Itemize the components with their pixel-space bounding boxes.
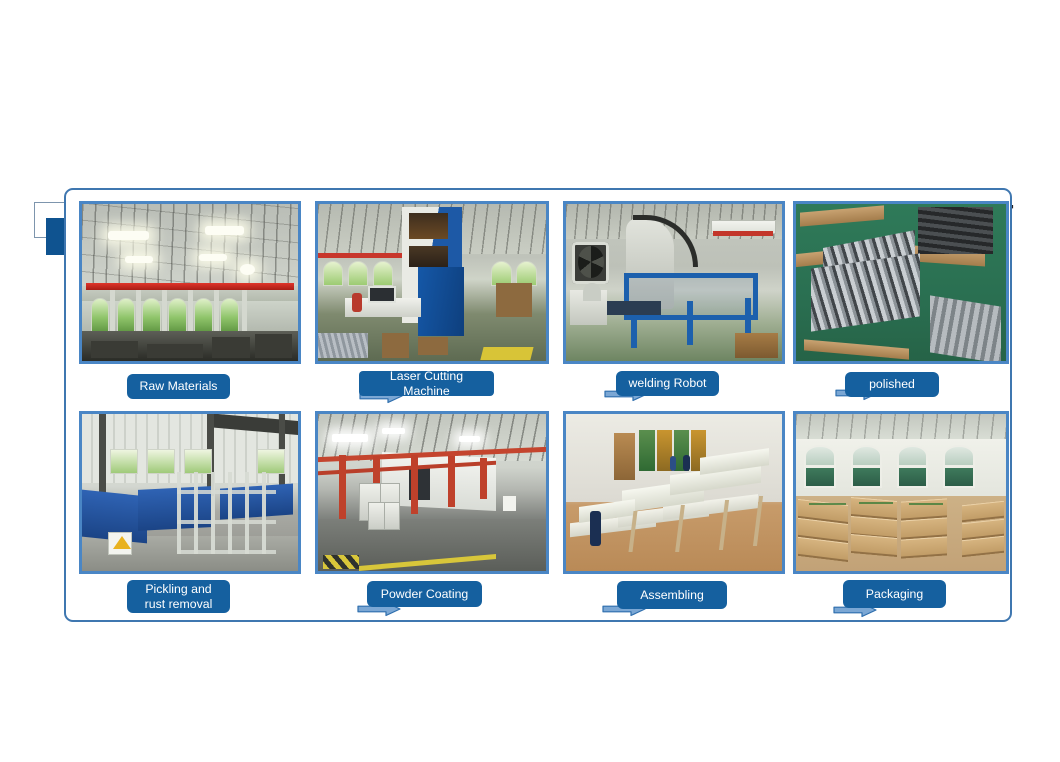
workflow-step-raw-materials[interactable]: Raw Materials	[79, 194, 301, 406]
photo-pickling-tanks	[79, 411, 301, 574]
photo-polished-metal-parts	[793, 201, 1009, 364]
photo-packaged-cartons-warehouse	[793, 411, 1009, 574]
photo-assembly-workshop	[563, 411, 785, 574]
workflow-step-powder-coating[interactable]: Powder Coating	[315, 404, 549, 616]
workflow-row-1: Raw Materials	[66, 194, 1014, 406]
workflow-step-welding-robot[interactable]: welding Robot	[563, 194, 785, 406]
photo-factory-workshop-interior	[79, 201, 301, 364]
step-label-laser-cutting-machine[interactable]: Laser Cutting Machine	[359, 371, 494, 396]
workflow-step-assembling[interactable]: Assembling	[563, 404, 785, 616]
workflow-row-2: Pickling and rust removal	[66, 404, 1014, 616]
photo-powder-coating-line	[315, 411, 549, 574]
workflow-panel: Raw Materials	[64, 188, 1012, 622]
workflow-step-packaging[interactable]: Packaging	[793, 404, 1009, 616]
workflow-step-laser-cutting-machine[interactable]: Laser Cutting Machine	[315, 194, 549, 406]
step-label-polished[interactable]: polished	[845, 372, 939, 397]
photo-welding-robot-cell	[563, 201, 785, 364]
page-header: Production Workflow Chart TOP OST	[0, 90, 1060, 170]
step-label-packaging[interactable]: Packaging	[843, 580, 946, 608]
step-label-assembling[interactable]: Assembling	[617, 581, 727, 609]
step-label-powder-coating[interactable]: Powder Coating	[367, 581, 482, 607]
workflow-step-polished[interactable]: polished	[793, 194, 1009, 406]
step-label-raw-materials[interactable]: Raw Materials	[127, 374, 230, 399]
step-label-pickling-rust-removal[interactable]: Pickling and rust removal	[127, 580, 230, 613]
workflow-step-pickling-rust-removal[interactable]: Pickling and rust removal	[79, 404, 301, 616]
step-label-welding-robot[interactable]: welding Robot	[616, 371, 719, 396]
photo-laser-cutting-machine	[315, 201, 549, 364]
